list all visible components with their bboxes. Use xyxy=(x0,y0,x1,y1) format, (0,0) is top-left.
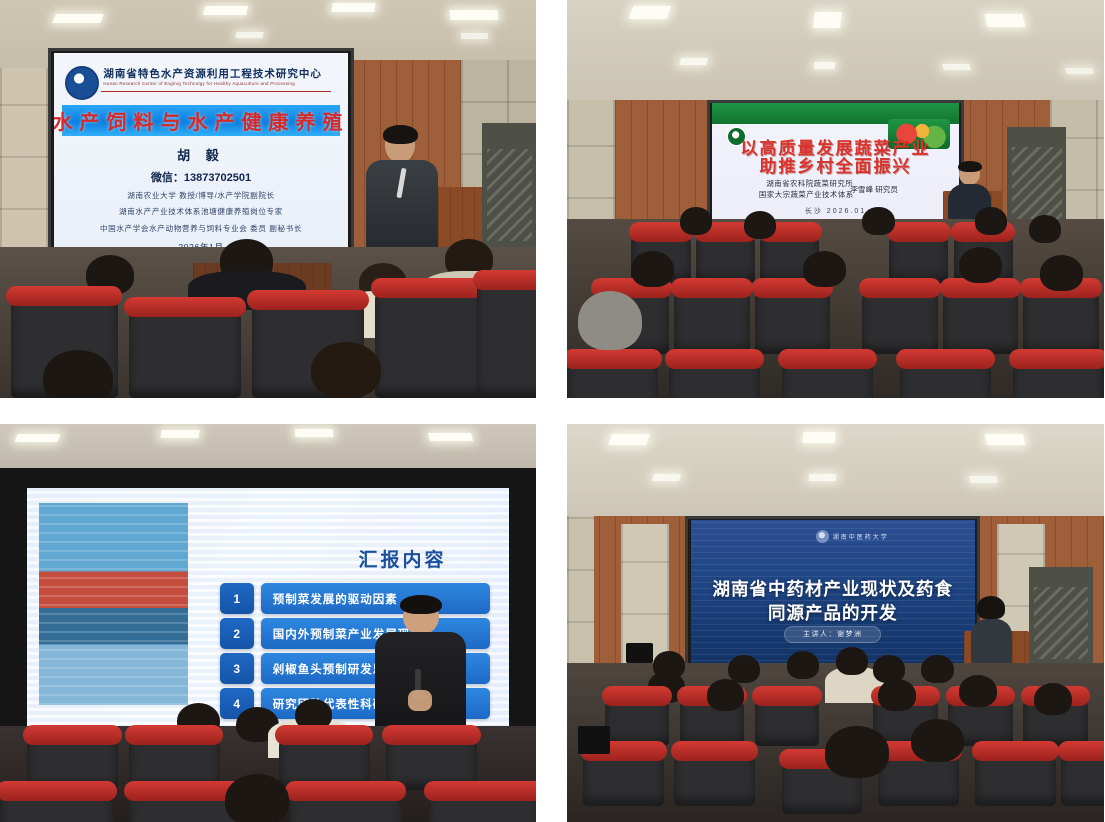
ceiling-lamp-icon xyxy=(608,434,650,445)
audience-phone-raised xyxy=(578,726,610,754)
ceiling-lamp-icon xyxy=(969,476,997,483)
audience-head xyxy=(744,211,776,239)
auditorium-seat xyxy=(669,358,760,398)
slide1-divider xyxy=(101,91,331,93)
auditorium-seat xyxy=(674,750,755,806)
audience-head xyxy=(959,247,1002,283)
photo-bottom-right: 湖南中医药大学 湖南省中药材产业现状及药食 同源产品的开发 主讲人：谢梦洲 20… xyxy=(567,424,1104,822)
auditorium-seat xyxy=(477,279,536,398)
auditorium-seat xyxy=(943,287,1018,355)
auditorium-seat xyxy=(429,790,536,822)
slide4-title-line-1: 湖南省中药材产业现状及药食 xyxy=(691,576,976,601)
auditorium-seat xyxy=(696,231,755,283)
audience-head xyxy=(707,679,745,711)
ceiling-lamp-icon xyxy=(1066,68,1095,74)
slide1-credential-1: 湖南农业大学 教授/博导/水产学院副院长 xyxy=(54,190,349,201)
audience-head xyxy=(1034,683,1072,715)
auditorium-seat xyxy=(0,790,113,822)
audience-head xyxy=(225,774,289,822)
photo-collage: 湖南省特色水产资源利用工程技术研究中心 Hunan Research Cente… xyxy=(0,0,1105,822)
slide2-presenter: 李雪峰 研究员 xyxy=(850,184,898,195)
equipment-cabinet xyxy=(482,123,536,266)
ceiling-lamp-icon xyxy=(235,32,263,38)
audience-head xyxy=(1029,215,1061,243)
auditorium-seat xyxy=(289,790,402,822)
slide4-title-line-2: 同源产品的开发 xyxy=(691,600,976,625)
audience-phone-raised xyxy=(626,643,653,663)
audience-head xyxy=(878,679,916,711)
slide4-subtitle-pill: 主讲人：谢梦洲 xyxy=(784,626,881,643)
slide1-org-title-en: Hunan Research Center of Enginig Technol… xyxy=(103,81,295,86)
research-center-logo-icon xyxy=(65,66,99,100)
slide1-header: 湖南省特色水产资源利用工程技术研究中心 Hunan Research Cente… xyxy=(65,64,336,101)
ceiling-lamp-icon xyxy=(14,434,60,442)
auditorium-seat xyxy=(755,695,819,747)
slide3-item-number: 2 xyxy=(220,618,254,649)
slide1-banner-title: 水产饲料与水产健康养殖 xyxy=(54,106,349,135)
slide2-affiliation-1: 湖南省农科院蔬菜研究所 xyxy=(766,178,853,189)
ceiling-lamp-icon xyxy=(52,14,104,23)
photo-top-right: 湖南省农业科学院蔬菜研究所 以高质量发展蔬菜产业 助推乡村全面振兴 湖南省农科院… xyxy=(567,0,1104,398)
ceiling-lamp-icon xyxy=(160,430,199,438)
speaker-person xyxy=(970,599,1013,667)
audience-head xyxy=(680,207,712,235)
ceiling-lamp-icon xyxy=(942,64,970,70)
slide1-contact: 微信：13873702501 xyxy=(54,169,349,185)
audience-head xyxy=(911,719,965,763)
audience-head xyxy=(921,655,953,683)
audience-head xyxy=(311,342,381,398)
ceiling-lamp-icon xyxy=(679,58,708,65)
photo-top-left: 湖南省特色水产资源利用工程技术研究中心 Hunan Research Cente… xyxy=(0,0,536,398)
auditorium-seat xyxy=(674,287,749,355)
audience-head xyxy=(631,251,674,287)
ceiling-lamp-icon xyxy=(203,6,248,15)
auditorium-seat xyxy=(583,750,664,806)
slide1-credential-2: 湖南水产产业技术体系池塘健康养殖岗位专家 xyxy=(54,206,349,217)
ceiling-lamp-icon xyxy=(629,6,671,19)
audience-head xyxy=(43,350,113,398)
audience-head xyxy=(825,726,889,778)
slide3-item-number: 1 xyxy=(220,583,254,614)
slide1-title-banner: 水产饲料与水产健康养殖 xyxy=(62,105,339,136)
ceiling-lamp-icon xyxy=(428,433,473,441)
speaker-body xyxy=(971,619,1012,666)
auditorium-seat xyxy=(375,287,482,398)
slide3-title: 汇报内容 xyxy=(358,545,446,572)
audience-head xyxy=(862,207,894,235)
auditorium-seat xyxy=(1061,750,1104,806)
ceiling-lamp-icon xyxy=(332,3,376,12)
slide4-org-header: 湖南中医药大学 xyxy=(833,532,889,541)
slide3-item-number: 3 xyxy=(220,653,254,684)
university-logo-icon xyxy=(816,530,829,543)
projection-screen: 湖南省特色水产资源利用工程技术研究中心 Hunan Research Cente… xyxy=(54,53,349,272)
audience-head xyxy=(728,655,760,683)
auditorium-seat xyxy=(755,287,830,355)
speaker-person xyxy=(364,127,439,262)
slide1-presenter-name: 胡 毅 xyxy=(54,145,349,164)
auditorium-seat xyxy=(975,750,1056,806)
audience-head-gray-hair xyxy=(578,291,642,351)
audience-head xyxy=(787,651,819,679)
auditorium-seat xyxy=(1023,287,1098,355)
slide-content-1: 湖南省特色水产资源利用工程技术研究中心 Hunan Research Cente… xyxy=(54,53,349,272)
slide2-affiliation-2: 国家大宗蔬菜产业技术体系 xyxy=(759,189,854,200)
audience-head xyxy=(959,675,997,707)
ceiling-lamp-icon xyxy=(814,62,836,69)
ceiling-lamp-icon xyxy=(813,12,842,28)
ceiling-lamp-icon xyxy=(984,14,1025,27)
ceiling-lamp-icon xyxy=(450,10,499,20)
auditorium-seat xyxy=(567,358,658,398)
audience-head xyxy=(803,251,846,287)
audience-head xyxy=(836,647,868,675)
wall-panels-left xyxy=(567,516,594,675)
ceiling-lamp-icon xyxy=(295,429,333,437)
ceiling xyxy=(567,0,1104,103)
auditorium-seat xyxy=(129,306,242,398)
auditorium-seat xyxy=(1013,358,1104,398)
auditorium-seat xyxy=(900,358,991,398)
ceiling xyxy=(567,424,1104,520)
ceiling-lamp-icon xyxy=(461,33,488,39)
auditorium-seat xyxy=(782,358,873,398)
ceiling-lamp-icon xyxy=(652,474,681,481)
auditorium-seat xyxy=(862,287,937,355)
slide2-title-line-2: 助推乡村全面振兴 xyxy=(712,152,959,177)
slide1-credential-3: 中国水产学会水产动物营养与饲料专业会 委员 副秘书长 xyxy=(54,223,349,234)
slide1-org-title: 湖南省特色水产资源利用工程技术研究中心 xyxy=(103,66,322,81)
audience-head xyxy=(975,207,1007,235)
ceiling-lamp-icon xyxy=(985,434,1025,445)
audience-head xyxy=(1040,255,1083,291)
ceiling-lamp-icon xyxy=(808,474,835,481)
slide4-subtitle: 主讲人：谢梦洲 xyxy=(803,629,863,639)
ceiling-lamp-icon xyxy=(803,432,836,443)
photo-bottom-left: 汇报内容 1 预制菜发展的驱动因素 2 国内外预制菜产业发展现状 3 xyxy=(0,424,536,822)
campus-photo-on-slide xyxy=(39,503,189,705)
auditorium-seat xyxy=(605,695,669,747)
auditorium-seat xyxy=(889,231,948,283)
